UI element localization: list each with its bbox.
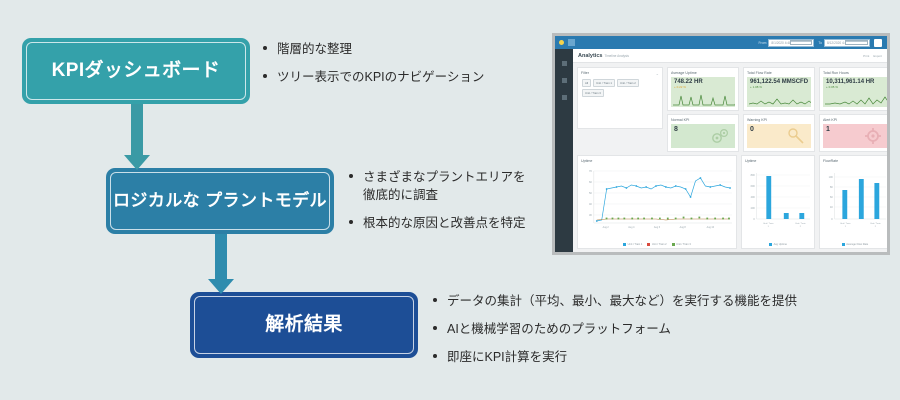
kpi-card-body: 748.22 HR + 0.22 % <box>671 77 735 107</box>
legend-label: Unit / Train 3 <box>676 243 691 246</box>
svg-text:Aug 6: Aug 6 <box>654 226 661 229</box>
list-item: ツリー表示でのKPIのナビゲーション <box>262 68 532 86</box>
svg-text:40: 40 <box>589 202 592 206</box>
svg-text:1: 1 <box>768 226 770 228</box>
filter-card-title: Filter <box>581 71 589 75</box>
chart-title: FlowRate <box>820 156 887 164</box>
sidebar-icon-settings[interactable] <box>562 95 567 100</box>
arrow-stem <box>131 104 143 155</box>
dashboard-topbar: From 8/1/2020 4:48 PM To 8/12/2020 4:48 … <box>555 36 887 49</box>
kpi-value: 10,311,961.14 HR <box>823 77 887 85</box>
chart-card-flowrate-bar[interactable]: FlowRate 10080 <box>819 155 887 249</box>
list-item: 階層的な整理 <box>262 40 532 58</box>
chart-legend: Unit / Train 1 Unit / Train 2 Unit / Tra… <box>580 243 734 246</box>
bullet-list-logical-plant-model: さまざまなプラントエリアを 徹底的に調査 根本的な原因と改善点を特定 <box>348 168 548 232</box>
dashboard-content: Analytics Timeline Analysis Print Export… <box>573 49 887 252</box>
filter-tag[interactable]: Unit / Train 1 <box>593 79 615 87</box>
svg-text:Unit / Train: Unit / Train <box>795 222 806 225</box>
status-card-title: Warning KPI <box>744 115 814 123</box>
arrow-stem <box>215 234 227 279</box>
svg-text:Aug 2: Aug 2 <box>603 226 610 229</box>
legend-swatch <box>842 243 845 246</box>
kpi-card-title: Total Run Hours <box>820 68 887 76</box>
list-item: 根本的な原因と改善点を特定 <box>348 214 548 232</box>
svg-text:1: 1 <box>845 226 847 228</box>
flow-step-label: 解析結果 <box>265 312 343 338</box>
filter-tag[interactable]: Unit / Train 3 <box>582 89 604 97</box>
svg-text:0: 0 <box>753 218 755 221</box>
hamburger-icon[interactable] <box>568 39 575 46</box>
kpi-delta: + 1.08 % <box>747 85 811 89</box>
chart-plot-area: 800600 400200 0 Unit / Train1 Unit / Tra… <box>744 165 812 246</box>
page-title: Analytics <box>578 53 602 59</box>
dashboard-screenshot: From 8/1/2020 4:48 PM To 8/12/2020 4:48 … <box>552 33 890 255</box>
brand-dot-icon <box>559 40 564 45</box>
chart-legend: Average Flow Rate <box>822 243 887 246</box>
svg-text:30: 30 <box>589 213 592 217</box>
legend-item[interactable]: Unit / Train 2 <box>647 243 666 246</box>
calendar-icon[interactable] <box>790 40 812 45</box>
svg-text:400: 400 <box>751 196 756 199</box>
filter-tag[interactable]: Unit / Train 2 <box>617 79 639 87</box>
list-item: さまざまなプラントエリアを 徹底的に調査 <box>348 168 548 204</box>
legend-label: Unit / Train 1 <box>628 243 643 246</box>
flow-step-label: ロジカルな プラントモデル <box>113 190 327 213</box>
svg-text:800: 800 <box>751 174 756 177</box>
svg-text:60: 60 <box>589 180 592 184</box>
svg-text:50: 50 <box>589 191 592 195</box>
from-label: From <box>758 41 766 45</box>
chart-plot-area: 10080 6040 0 Unit / Train1 Unit / Train2 <box>822 165 887 246</box>
arrow-kpi-to-model <box>124 104 150 170</box>
legend-label: Average Flow Rate <box>846 243 868 246</box>
arrow-head <box>124 155 150 170</box>
kpi-card-body: 961,122.54 MMSCFD + 1.08 % <box>747 77 811 107</box>
svg-text:Aug 4: Aug 4 <box>628 226 635 229</box>
legend-item[interactable]: Unit / Train 3 <box>672 243 691 246</box>
chart-plot-area: 7060 5040 30 Aug 2Aug 4 Aug 6Aug 8 Aug 1… <box>580 165 734 246</box>
status-card-body: 8 <box>671 124 735 148</box>
svg-text:Unit / Train: Unit / Train <box>870 222 881 225</box>
list-item: データの集計（平均、最小、最大など）を実行する機能を提供 <box>432 292 842 310</box>
svg-text:Aug 8: Aug 8 <box>680 226 687 229</box>
legend-swatch <box>623 243 626 246</box>
arrow-head <box>208 279 234 294</box>
to-datetime-input[interactable]: 8/12/2020 4:48 PM <box>824 39 870 47</box>
user-menu-icon[interactable] <box>874 39 882 47</box>
gear-icon <box>864 127 882 145</box>
kpi-card-title: Average Uptime <box>668 68 738 76</box>
arrow-model-to-result <box>208 234 234 294</box>
from-datetime-input[interactable]: 8/1/2020 4:48 PM <box>768 39 814 47</box>
filter-tag-list: All Unit / Train 1 Unit / Train 2 Unit /… <box>582 79 658 97</box>
kpi-delta: + 0.05 % <box>823 85 887 89</box>
wrench-icon <box>786 127 806 145</box>
bar-chart-svg: 800600 400200 0 Unit / Train1 Unit / Tra… <box>744 165 812 237</box>
chart-title: Uptime <box>742 156 814 164</box>
action-export[interactable]: Export <box>873 54 882 58</box>
chart-legend: Avg Uptime <box>744 243 812 246</box>
status-card-title: Alert KPI <box>820 115 887 123</box>
sparkline-icon <box>673 92 735 106</box>
filter-tag[interactable]: All <box>582 79 591 87</box>
chevron-icon[interactable]: ⌄ <box>656 71 659 76</box>
to-datetime-value: 8/12/2020 4:48 PM <box>825 41 845 45</box>
flow-step-logical-plant-model[interactable]: ロジカルな プラントモデル <box>106 168 334 234</box>
status-card-title: Normal KPI <box>668 115 738 123</box>
sparkline-icon <box>749 92 811 106</box>
svg-text:Unit / Train: Unit / Train <box>840 222 851 225</box>
flow-step-analysis-result[interactable]: 解析結果 <box>190 292 418 358</box>
kpi-value: 748.22 HR <box>671 77 735 85</box>
chart-title: Uptime <box>578 156 736 164</box>
sidebar-icon-analytics[interactable] <box>562 78 567 83</box>
legend-label: Unit / Train 2 <box>652 243 667 246</box>
diagram-canvas: KPIダッシュボード ロジカルな プラントモデル 解析結果 階層的な整理 ツリー… <box>0 0 900 400</box>
status-card-body: 1 <box>823 124 887 148</box>
svg-text:60: 60 <box>830 196 833 199</box>
kpi-card-total-flow-rate[interactable]: Total Flow Rate 961,122.54 MMSCFD + 1.08… <box>743 67 815 111</box>
filter-card[interactable]: Filter ⌄ All Unit / Train 1 Unit / Train… <box>577 67 663 129</box>
bullet-list-kpi-dashboard: 階層的な整理 ツリー表示でのKPIのナビゲーション <box>262 40 532 86</box>
svg-text:2: 2 <box>800 226 802 228</box>
svg-text:100: 100 <box>829 176 834 179</box>
dashboard-page-header: Analytics Timeline Analysis Print Export <box>573 49 887 63</box>
kpi-card-body: 10,311,961.14 HR + 0.05 % <box>823 77 887 107</box>
status-card-normal-kpi[interactable]: Normal KPI 8 <box>667 114 739 152</box>
bullet-list-analysis-result: データの集計（平均、最小、最大など）を実行する機能を提供 AIと機械学習のための… <box>432 292 842 366</box>
svg-text:0: 0 <box>831 218 833 221</box>
legend-item[interactable]: Average Flow Rate <box>842 243 869 246</box>
legend-swatch <box>769 243 772 246</box>
chart-card-uptime-bar[interactable]: Uptime 800600 <box>741 155 815 249</box>
svg-text:70: 70 <box>589 169 592 173</box>
list-item: AIと機械学習のためのプラットフォーム <box>432 320 842 338</box>
svg-text:80: 80 <box>830 186 833 189</box>
dashboard-grid: Filter ⌄ All Unit / Train 1 Unit / Train… <box>573 63 887 252</box>
from-datetime-value: 8/1/2020 4:48 PM <box>769 41 789 45</box>
filter-card-header: Filter ⌄ <box>578 68 662 76</box>
flow-step-kpi-dashboard[interactable]: KPIダッシュボード <box>22 38 250 104</box>
sidebar-icon-home[interactable] <box>562 61 567 66</box>
kpi-card-average-uptime[interactable]: Average Uptime 748.22 HR + 0.22 % <box>667 67 739 111</box>
dashboard-window: From 8/1/2020 4:48 PM To 8/12/2020 4:48 … <box>555 36 887 252</box>
svg-text:Unit / Train: Unit / Train <box>763 222 774 225</box>
kpi-value: 961,122.54 MMSCFD <box>747 77 811 85</box>
legend-item[interactable]: Unit / Train 1 <box>623 243 642 246</box>
flow-step-label: KPIダッシュボード <box>52 58 221 84</box>
status-card-warning-kpi[interactable]: Warning KPI 0 <box>743 114 815 152</box>
legend-label: Avg Uptime <box>774 243 787 246</box>
chart-card-uptime-line[interactable]: Uptime <box>577 155 737 249</box>
svg-text:2: 2 <box>875 226 877 228</box>
svg-text:Aug 10: Aug 10 <box>707 226 715 229</box>
to-label: To <box>818 41 822 45</box>
calendar-icon[interactable] <box>845 40 867 45</box>
legend-swatch <box>647 243 650 246</box>
kpi-delta: + 0.22 % <box>671 85 735 89</box>
svg-text:40: 40 <box>830 206 833 209</box>
legend-swatch <box>672 243 675 246</box>
list-item: 即座にKPI計算を実行 <box>432 348 842 366</box>
gears-icon <box>710 127 730 145</box>
dashboard-sidebar-rail <box>555 49 573 252</box>
kpi-card-total-run-hours[interactable]: Total Run Hours 10,311,961.14 HR + 0.05 … <box>819 67 887 111</box>
svg-text:200: 200 <box>751 207 756 210</box>
kpi-card-title: Total Flow Rate <box>744 68 814 76</box>
bar-chart-svg: 10080 6040 0 Unit / Train1 Unit / Train2 <box>822 165 887 237</box>
line-chart-svg: 7060 5040 30 Aug 2Aug 4 Aug 6Aug 8 Aug 1… <box>580 165 734 237</box>
svg-text:600: 600 <box>751 185 756 188</box>
legend-item[interactable]: Avg Uptime <box>769 243 787 246</box>
page-subtitle: Timeline Analysis <box>604 54 629 58</box>
sparkline-icon <box>825 92 887 106</box>
action-print[interactable]: Print <box>863 54 869 58</box>
status-card-body: 0 <box>747 124 811 148</box>
status-card-alert-kpi[interactable]: Alert KPI 1 <box>819 114 887 152</box>
